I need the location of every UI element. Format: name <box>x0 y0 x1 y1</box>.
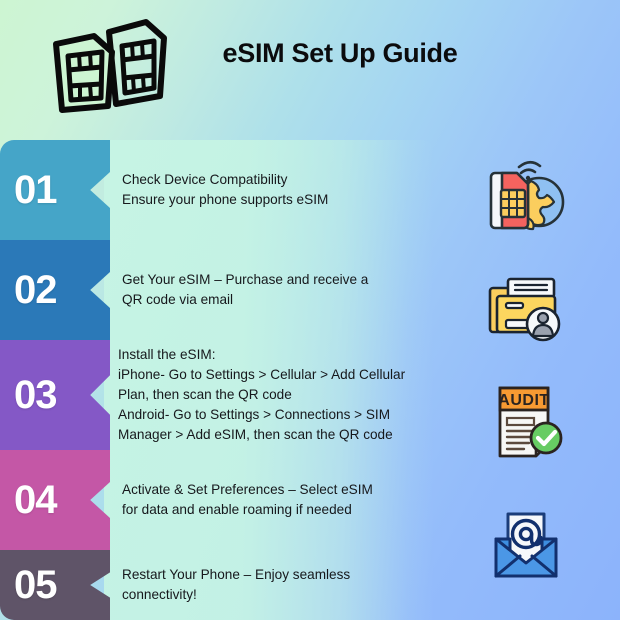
email-envelope-at-icon <box>486 508 566 588</box>
step-line: for data and enable roaming if needed <box>122 500 452 520</box>
step-text-05: Restart Your Phone – Enjoy seamless conn… <box>122 550 452 620</box>
dual-sim-cards-icon <box>42 16 172 116</box>
step-line: Activate & Set Preferences – Select eSIM <box>122 480 452 500</box>
step-line: Plan, then scan the QR code <box>118 385 458 405</box>
header: eSIM Set Up Guide <box>0 0 620 128</box>
page-title: eSIM Set Up Guide <box>190 38 490 69</box>
step-text-01: Check Device Compatibility Ensure your p… <box>122 140 452 240</box>
step-line: Ensure your phone supports eSIM <box>122 190 452 210</box>
folder-contact-icon <box>486 265 566 345</box>
step-number-01: 01 <box>14 170 57 210</box>
step-line: Restart Your Phone – Enjoy seamless <box>122 565 452 585</box>
step-number-03: 03 <box>14 375 57 415</box>
step-text-03: Install the eSIM: iPhone- Go to Settings… <box>118 340 458 450</box>
step-line: iPhone- Go to Settings > Cellular > Add … <box>118 365 458 385</box>
step-banner-05[interactable]: 05 <box>0 550 110 620</box>
step-banner-04[interactable]: 04 <box>0 450 110 550</box>
step-number-05: 05 <box>14 565 57 605</box>
step-number-02: 02 <box>14 270 57 310</box>
step-line: Manager > Add eSIM, then scan the QR cod… <box>118 425 458 445</box>
step-banner-03[interactable]: 03 <box>0 340 110 450</box>
step-line: Android- Go to Settings > Connections > … <box>118 405 458 425</box>
sim-card-globe-icon <box>486 157 566 237</box>
step-line: Install the eSIM: <box>118 345 458 365</box>
step-text-02: Get Your eSIM – Purchase and receive a Q… <box>122 240 452 340</box>
step-text-04: Activate & Set Preferences – Select eSIM… <box>122 450 452 550</box>
step-banner-01[interactable]: 01 <box>0 140 110 240</box>
infographic-canvas: eSIM Set Up Guide 01 Check Device Compat… <box>0 0 620 620</box>
audit-document-check-icon: AUDIT <box>486 380 566 460</box>
step-line: Check Device Compatibility <box>122 170 452 190</box>
step-banner-02[interactable]: 02 <box>0 240 110 340</box>
step-line: QR code via email <box>122 290 452 310</box>
step-number-04: 04 <box>14 480 57 520</box>
step-line: connectivity! <box>122 585 452 605</box>
audit-label: AUDIT <box>498 392 549 409</box>
step-line: Get Your eSIM – Purchase and receive a <box>122 270 452 290</box>
